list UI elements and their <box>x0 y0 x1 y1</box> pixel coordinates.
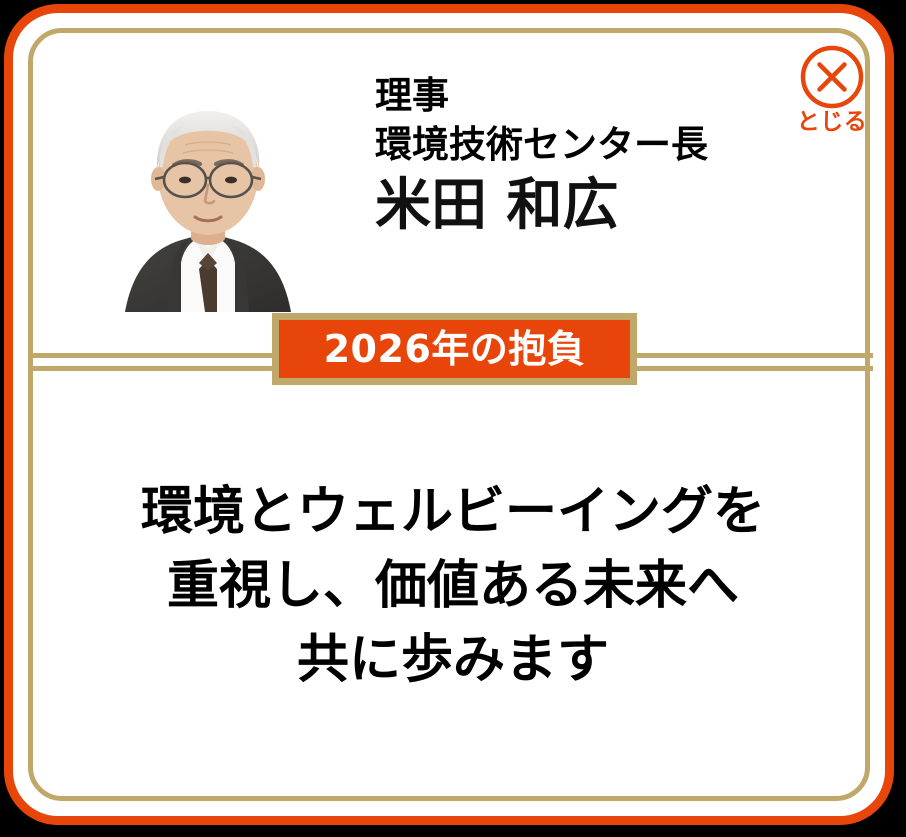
role-line-1: 理事 <box>375 72 795 121</box>
portrait-illustration <box>113 67 303 312</box>
close-circle-x-icon <box>799 44 865 110</box>
message-line-2: 重視し、価値ある未来へ <box>48 550 858 624</box>
portrait-photo <box>113 67 303 312</box>
card-content: とじる <box>0 0 906 837</box>
close-button-label: とじる <box>793 111 871 134</box>
header-text-block: 理事 環境技術センター長 米田 和広 <box>375 72 795 236</box>
message-block: 環境とウェルビーイングを 重視し、価値ある未来へ 共に歩みます <box>48 476 858 697</box>
screenshot-stage: とじる <box>0 0 906 837</box>
close-button[interactable]: とじる <box>793 44 871 144</box>
section-banner: 2026年の抱負 <box>272 313 637 385</box>
person-name: 米田 和広 <box>375 176 795 236</box>
role-line-2: 環境技術センター長 <box>375 121 795 170</box>
message-line-1: 環境とウェルビーイングを <box>48 476 858 550</box>
message-line-3: 共に歩みます <box>48 624 858 698</box>
section-banner-label: 2026年の抱負 <box>324 330 586 368</box>
